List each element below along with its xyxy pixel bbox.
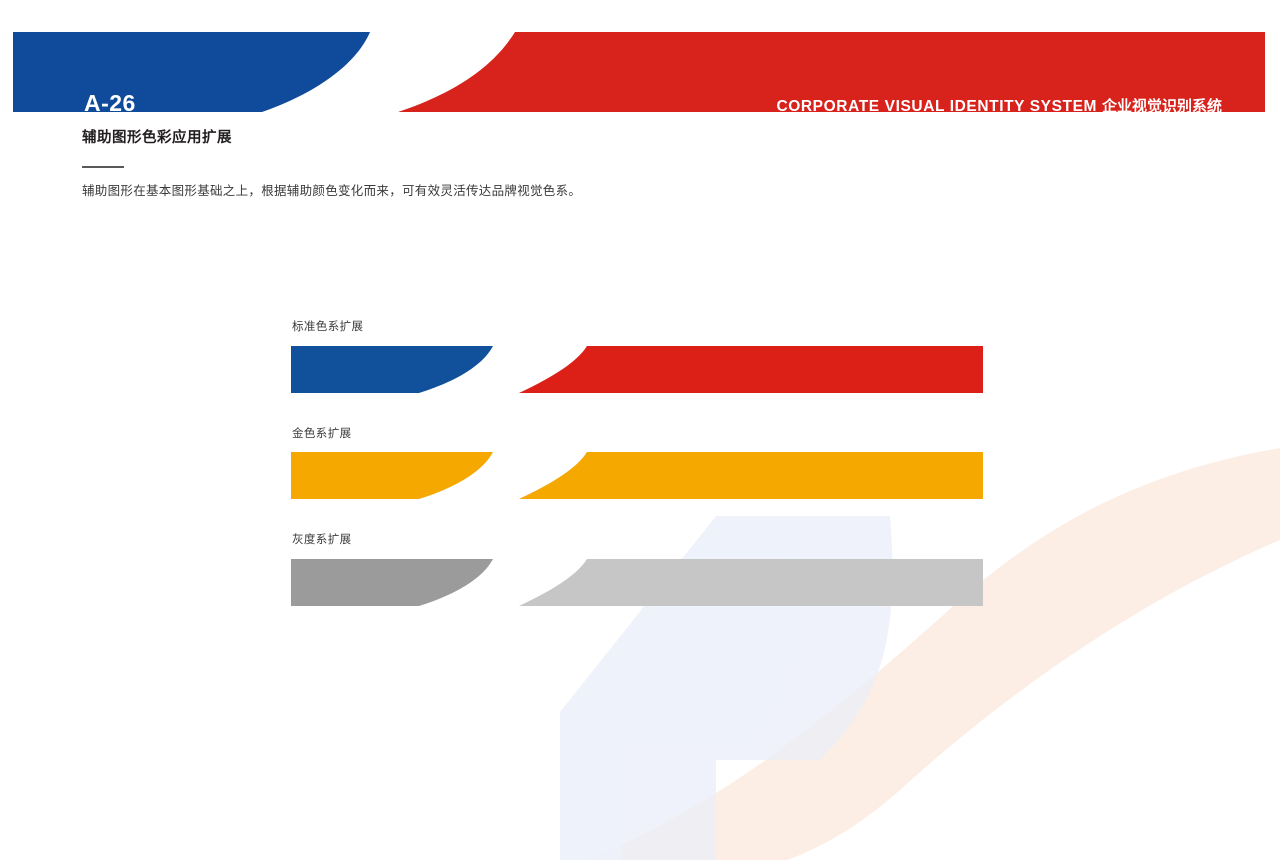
- swatch-group-standard: 标准色系扩展: [291, 322, 991, 393]
- standard-bar-right-shape: [519, 346, 983, 393]
- swatch-list: 标准色系扩展 金色系扩展 灰度系扩展: [291, 322, 991, 606]
- grayscale-bar-right-shape: [519, 559, 983, 606]
- grayscale-color-bar: [291, 559, 983, 606]
- section-divider-rule: [82, 166, 124, 168]
- header-blue-shape: [13, 32, 370, 112]
- section-description: 辅助图形在基本图形基础之上，根据辅助颜色变化而来，可有效灵活传达品牌视觉色系。: [82, 182, 581, 201]
- swatch-label-grayscale: 灰度系扩展: [292, 535, 991, 547]
- section-title: 辅助图形色彩应用扩展: [82, 128, 581, 148]
- swatch-label-standard: 标准色系扩展: [292, 322, 991, 334]
- page-canvas: A-26 CORPORATE VISUAL IDENTITY SYSTEM 企业…: [0, 0, 1280, 860]
- gold-color-bar: [291, 452, 983, 499]
- gold-bar-left-shape: [291, 452, 493, 499]
- grayscale-bar-left-shape: [291, 559, 493, 606]
- header-title: CORPORATE VISUAL IDENTITY SYSTEM 企业视觉识别系…: [776, 95, 1222, 116]
- swatch-label-gold: 金色系扩展: [292, 429, 991, 441]
- section-block: 辅助图形色彩应用扩展 辅助图形在基本图形基础之上，根据辅助颜色变化而来，可有效灵…: [82, 128, 581, 201]
- standard-bar-left-shape: [291, 346, 493, 393]
- swatch-group-gold: 金色系扩展: [291, 429, 991, 500]
- gold-bar-right-shape: [519, 452, 983, 499]
- page-header: A-26 CORPORATE VISUAL IDENTITY SYSTEM 企业…: [0, 32, 1280, 112]
- swatch-group-grayscale: 灰度系扩展: [291, 535, 991, 606]
- header-title-cn: 企业视觉识别系统: [1102, 98, 1222, 115]
- page-code-label: A-26: [84, 90, 136, 117]
- header-title-en: CORPORATE VISUAL IDENTITY SYSTEM: [776, 98, 1097, 115]
- standard-color-bar: [291, 346, 983, 393]
